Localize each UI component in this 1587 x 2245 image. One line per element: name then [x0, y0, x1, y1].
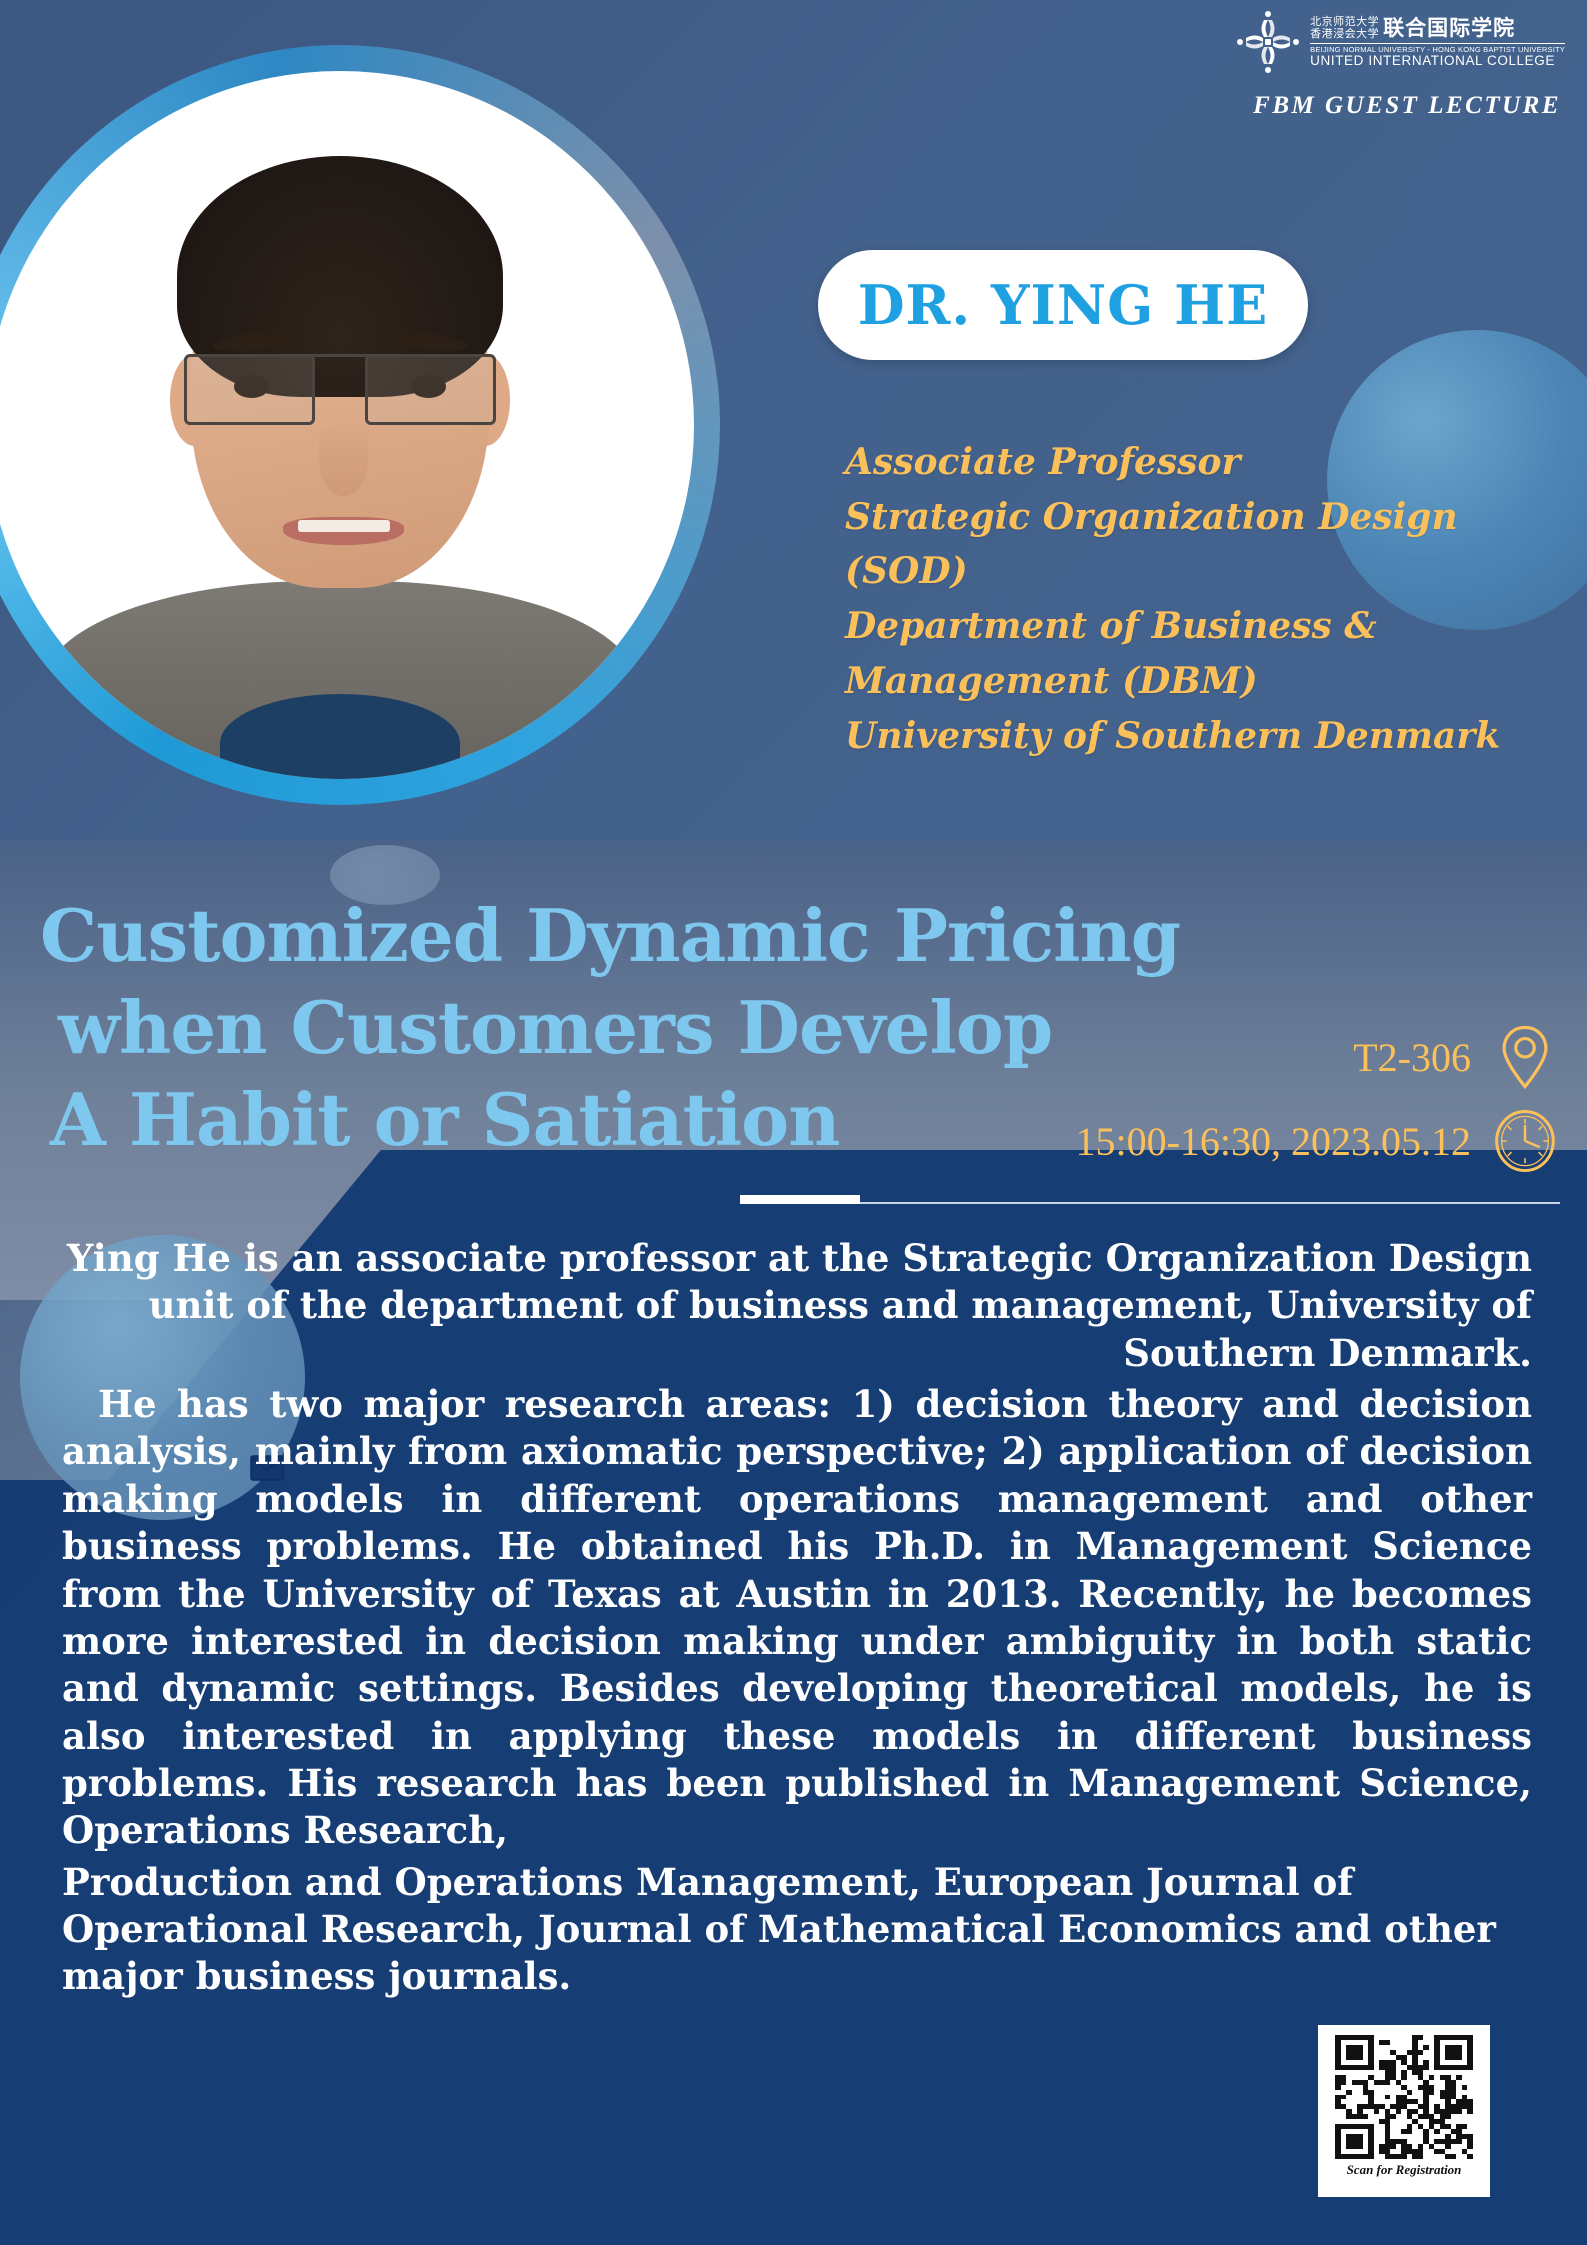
- affiliation-line-5: University of Southern Denmark: [845, 709, 1565, 764]
- avatar: [0, 71, 694, 779]
- glasses-lens-left: [184, 354, 315, 425]
- logo-divider: [1310, 43, 1565, 44]
- lecture-poster: 北京师范大学 香港浸会大学 联合国际学院 BEIJING NORMAL UNIV…: [0, 0, 1587, 2245]
- uic-snowflake-logo-icon: [1236, 10, 1300, 74]
- talk-title-line-1: Customized Dynamic Pricing: [40, 890, 1340, 982]
- glasses-lens-right: [365, 354, 496, 425]
- glasses-bridge: [283, 354, 396, 357]
- portrait-illustration: [0, 71, 694, 779]
- affiliation-line-3: Department of Business &: [845, 599, 1565, 654]
- venue-text: T2-306: [1353, 1034, 1471, 1081]
- bio-paragraph-3: Production and Operations Management, Eu…: [62, 1859, 1532, 2001]
- bio-paragraph-2: He has two major research areas: 1) deci…: [62, 1381, 1532, 1855]
- speaker-name-badge: DR. YING HE: [818, 250, 1308, 360]
- qr-caption: Scan for Registration: [1347, 2162, 1462, 2178]
- affiliation-line-4: Management (DBM): [845, 654, 1565, 709]
- time-text: 15:00-16:30, 2023.05.12: [1075, 1118, 1471, 1165]
- venue-row: T2-306: [917, 1025, 1557, 1089]
- divider-thin-line: [740, 1202, 1560, 1204]
- speaker-name: DR. YING HE: [858, 273, 1269, 337]
- section-divider: [740, 1195, 1560, 1204]
- affiliation-line-1: Associate Professor: [845, 435, 1565, 490]
- speaker-bio: Ying He is an associate professor at the…: [62, 1235, 1532, 2005]
- clock-icon: [1493, 1109, 1557, 1173]
- time-row: 15:00-16:30, 2023.05.12: [917, 1109, 1557, 1173]
- qr-code-icon[interactable]: [1335, 2035, 1473, 2159]
- portrait-nose: [319, 425, 369, 496]
- divider-thick-segment: [740, 1195, 860, 1204]
- portrait-glasses: [184, 354, 496, 425]
- speaker-portrait-ring: [0, 45, 720, 805]
- bio-paragraph-1: Ying He is an associate professor at the…: [62, 1235, 1532, 1377]
- speaker-affiliation: Associate Professor Strategic Organizati…: [845, 435, 1565, 763]
- lecture-series-label: FBM GUEST LECTURE: [1253, 92, 1561, 120]
- affiliation-line-2: Strategic Organization Design (SOD): [845, 490, 1565, 599]
- logo-cn-line2: 香港浸会大学: [1310, 28, 1379, 41]
- location-pin-icon: [1493, 1025, 1557, 1089]
- portrait-teeth: [298, 520, 390, 532]
- logo-cn-big: 联合国际学院: [1383, 17, 1515, 39]
- university-logo: 北京师范大学 香港浸会大学 联合国际学院 BEIJING NORMAL UNIV…: [1236, 10, 1565, 74]
- event-details: T2-306 15:00-16:30, 2023.05.12: [917, 1025, 1557, 1193]
- registration-qr-card[interactable]: Scan for Registration: [1318, 2025, 1490, 2197]
- logo-en-big: UNITED INTERNATIONAL COLLEGE: [1310, 54, 1565, 68]
